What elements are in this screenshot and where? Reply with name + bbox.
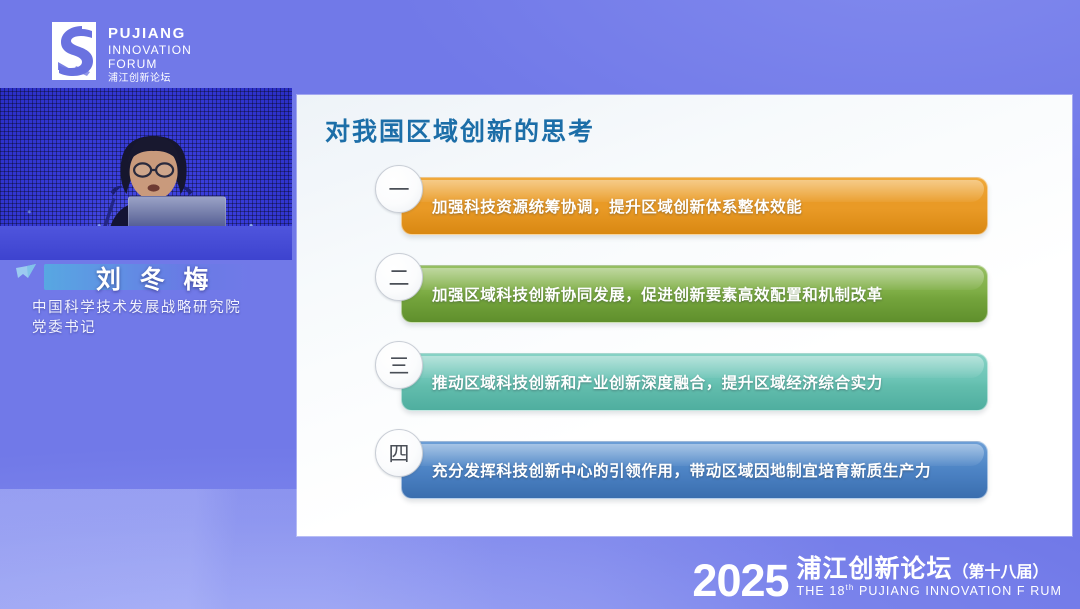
slide-point-list: 一 加强科技资源统筹协调，提升区域创新体系整体效能 二 加强区域科技创新协同发展…	[297, 165, 1072, 517]
brand-chinese-main: 浦江创新论坛	[797, 554, 953, 583]
point-bar: 加强区域科技创新协同发展，促进创新要素高效配置和机制改革	[401, 265, 988, 323]
brand-english-title: THE 18th PUJIANG INNOVATION F RUM	[797, 584, 1062, 598]
podium	[0, 226, 292, 260]
point-bar: 加强科技资源统筹协调，提升区域创新体系整体效能	[401, 177, 988, 235]
slide-title: 对我国区域创新的思考	[325, 112, 595, 148]
list-item: 二 加强区域科技创新协同发展，促进创新要素高效配置和机制改革	[297, 253, 1072, 341]
point-text: 加强科技资源统筹协调，提升区域创新体系整体效能	[432, 195, 802, 217]
point-number-badge: 二	[375, 253, 423, 301]
brand-text-block: 浦江创新论坛（第十八届） THE 18th PUJIANG INNOVATION…	[797, 556, 1062, 601]
pujiang-forum-logo-icon	[52, 22, 96, 80]
forum-logo-wordmark: PUJIANG INNOVATION FORUM 浦江创新论坛	[108, 22, 192, 85]
broadcast-stage: PUJIANG INNOVATION FORUM 浦江创新论坛	[0, 0, 1080, 609]
brand-chinese-title: 浦江创新论坛（第十八届）	[797, 556, 1062, 581]
list-item: 四 充分发挥科技创新中心的引领作用，带动区域因地制宜培育新质生产力	[297, 429, 1072, 517]
presentation-slide: 对我国区域创新的思考 一 加强科技资源统筹协调，提升区域创新体系整体效能 二 加…	[297, 95, 1072, 536]
brand-english-pre: THE 18	[797, 585, 846, 599]
brand-english-post: PUJIANG INNOVATION F RUM	[854, 585, 1062, 599]
speaker-nameplate: 刘 冬 梅 中国科学技术发展战略研究院 党委书记	[0, 258, 292, 336]
logo-text-forum: FORUM	[108, 58, 192, 71]
brand-year: 2025	[692, 560, 788, 601]
point-text: 推动区域科技创新和产业创新深度融合，提升区域经济综合实力	[432, 371, 883, 393]
point-number-badge: 四	[375, 429, 423, 477]
check-ribbon-icon	[14, 262, 44, 288]
speaker-affiliation-line-2: 党委书记	[32, 316, 96, 337]
list-item: 一 加强科技资源统筹协调，提升区域创新体系整体效能	[297, 165, 1072, 253]
point-text: 充分发挥科技创新中心的引领作用，带动区域因地制宜培育新质生产力	[432, 459, 931, 481]
logo-text-innovation: INNOVATION	[108, 44, 192, 57]
forum-branding: 2025 浦江创新论坛（第十八届） THE 18th PUJIANG INNOV…	[692, 556, 1062, 601]
forum-logo: PUJIANG INNOVATION FORUM 浦江创新论坛	[52, 22, 192, 85]
speaker-affiliation-line-1: 中国科学技术发展战略研究院	[32, 296, 241, 317]
logo-text-chinese: 浦江创新论坛	[108, 74, 192, 85]
point-number-badge: 三	[375, 341, 423, 389]
logo-text-pujiang: PUJIANG	[108, 26, 192, 42]
list-item: 三 推动区域科技创新和产业创新深度融合，提升区域经济综合实力	[297, 341, 1072, 429]
speaker-video-feed	[0, 88, 292, 260]
brand-chinese-edition: （第十八届）	[953, 562, 1049, 581]
point-text: 加强区域科技创新协同发展，促进创新要素高效配置和机制改革	[432, 283, 883, 305]
point-number-badge: 一	[375, 165, 423, 213]
point-bar: 充分发挥科技创新中心的引领作用，带动区域因地制宜培育新质生产力	[401, 441, 988, 499]
speaker-name: 刘 冬 梅	[96, 260, 213, 296]
point-bar: 推动区域科技创新和产业创新深度融合，提升区域经济综合实力	[401, 353, 988, 411]
